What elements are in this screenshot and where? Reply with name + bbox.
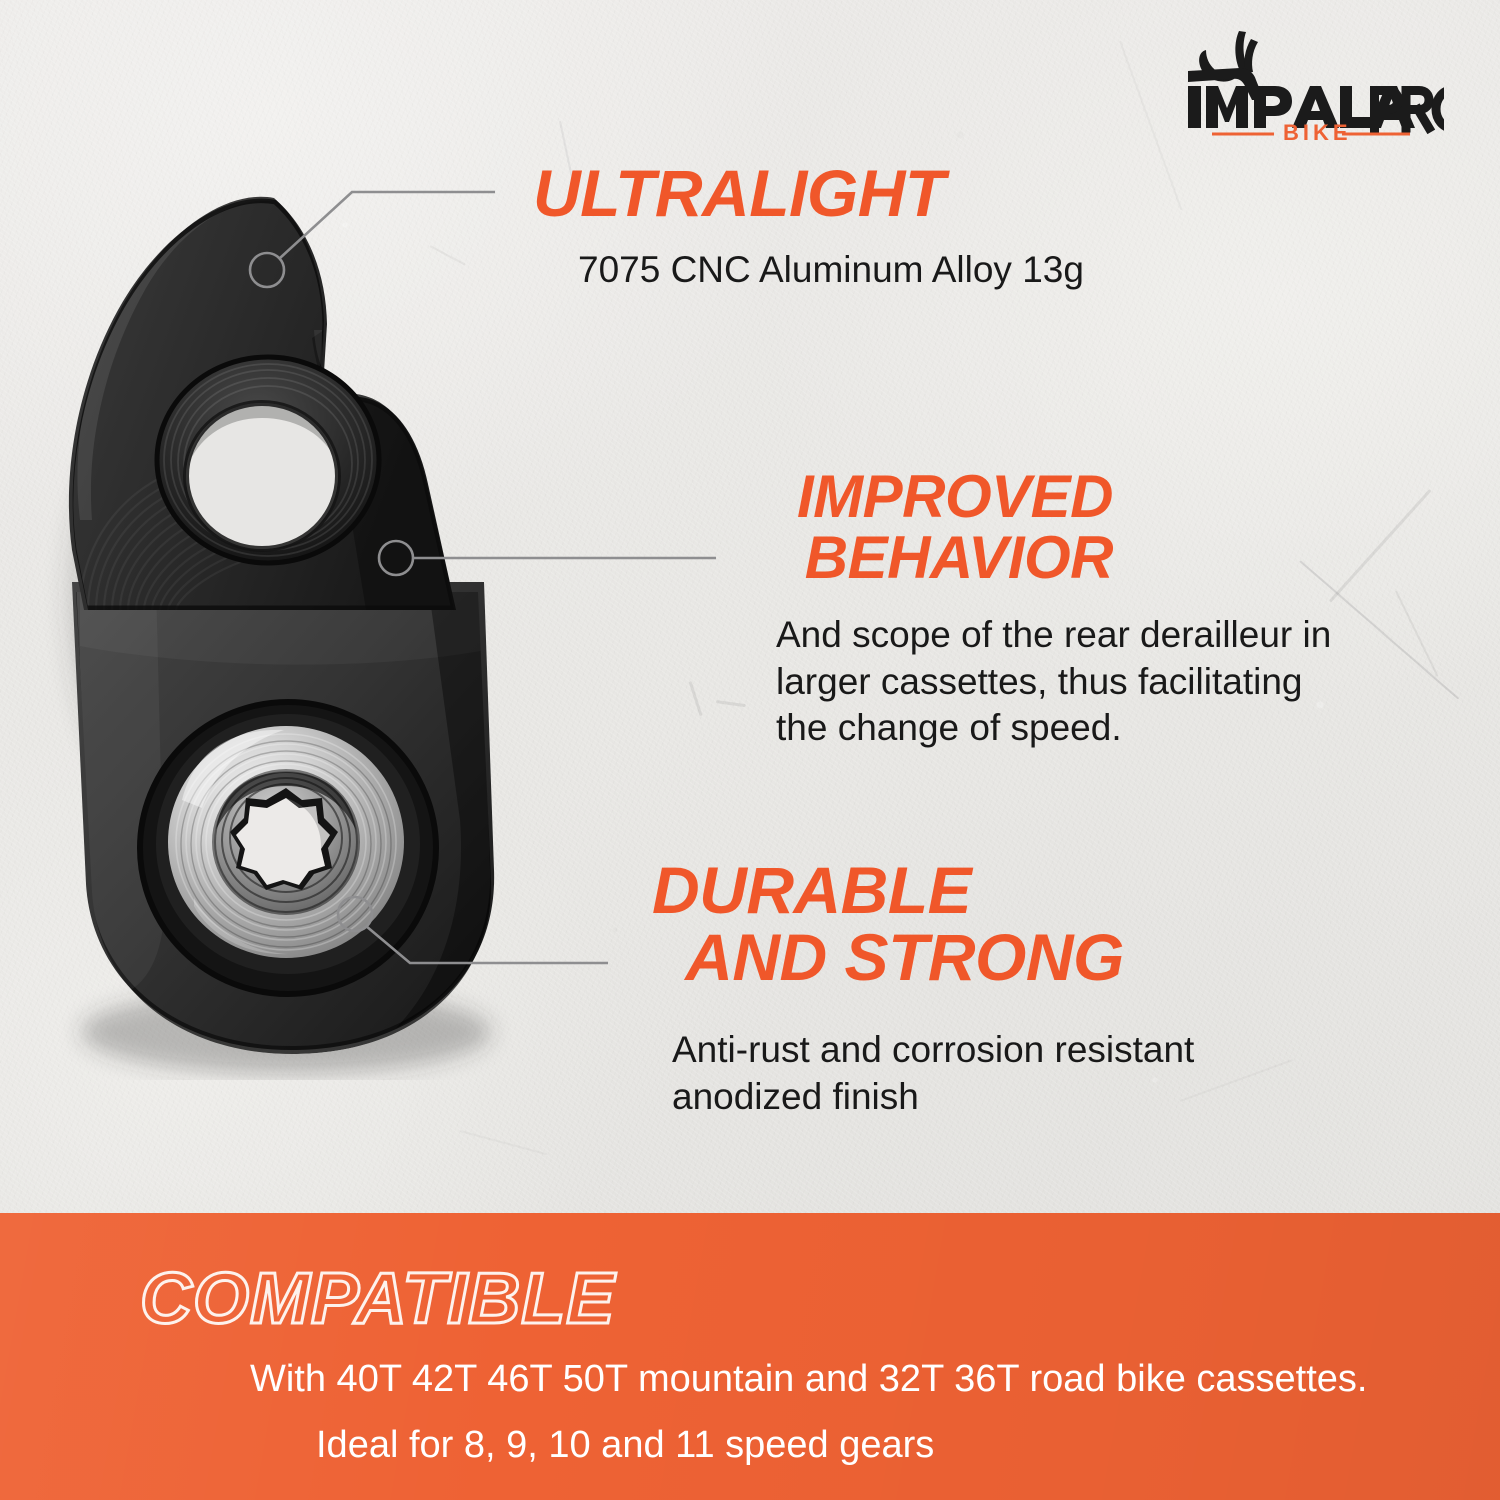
feature-body-ultralight: 7075 CNC Aluminum Alloy 13g bbox=[578, 247, 1084, 294]
feature-heading-durable-and-strong: DURABLE AND STRONG bbox=[652, 857, 1124, 992]
compatibility-title: COMPATIBLE bbox=[140, 1258, 615, 1340]
product-image-derailleur-hanger bbox=[36, 180, 536, 1080]
feature-heading-ultralight: ULTRALIGHT bbox=[533, 160, 945, 227]
feature-body-durable-and-strong: Anti-rust and corrosion resistant anodiz… bbox=[672, 1027, 1194, 1120]
product-infographic: BIKE bbox=[0, 0, 1500, 1500]
hanger-threaded-hole bbox=[157, 357, 379, 563]
brand-logo: BIKE bbox=[1182, 28, 1444, 140]
compatibility-line-1: With 40T 42T 46T 50T mountain and 32T 36… bbox=[250, 1358, 1367, 1401]
feature-heading-improved-behavior: IMPROVED BEHAVIOR bbox=[723, 466, 1113, 588]
feature-body-improved-behavior: And scope of the rear derailleur in larg… bbox=[776, 612, 1331, 752]
compatibility-line-2: Ideal for 8, 9, 10 and 11 speed gears bbox=[316, 1424, 934, 1467]
logo-subtitle: BIKE bbox=[1283, 120, 1352, 140]
hanger-bolt bbox=[140, 702, 436, 994]
